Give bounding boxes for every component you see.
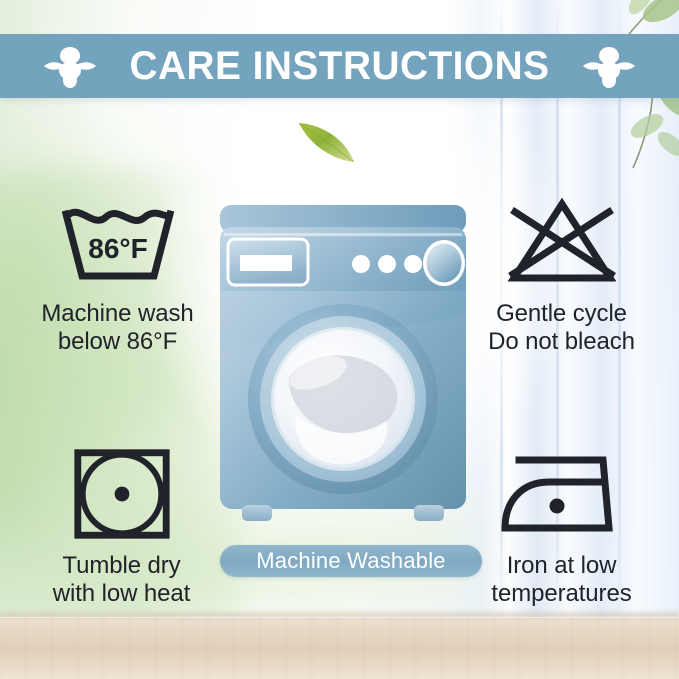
care-symbol-label: Gentle cycle Do not bleach	[454, 300, 669, 356]
care-symbol-tumble-dry: Tumble dry with low heat	[14, 442, 229, 608]
control-knob	[423, 240, 465, 286]
triangle-crossed-out-icon	[454, 190, 669, 294]
detergent-drawer	[228, 239, 308, 285]
status-badge: Machine Washable	[220, 545, 482, 577]
care-symbol-gentle-cycle-no-bleach: Gentle cycle Do not bleach	[454, 190, 669, 356]
care-symbol-label: Machine wash below 86°F	[10, 300, 225, 356]
tumble-dry-icon	[14, 442, 229, 546]
wood-grain-texture	[0, 617, 679, 679]
care-symbol-iron: Iron at low temperatures	[454, 442, 669, 608]
iron-icon	[454, 442, 669, 546]
washing-machine-illustration	[214, 201, 472, 541]
fleur-de-lis-icon	[43, 42, 97, 90]
badge-label: Machine Washable	[256, 550, 445, 572]
wash-temperature-value: 86°F	[88, 233, 147, 264]
table-edge	[0, 609, 679, 617]
header-banner: CARE INSTRUCTIONS	[0, 34, 679, 98]
control-indicator-dots	[352, 255, 422, 273]
page-title: CARE INSTRUCTIONS	[130, 46, 550, 86]
care-instructions-infographic: CARE INSTRUCTIONS	[0, 0, 679, 679]
care-symbol-label: Tumble dry with low heat	[14, 552, 229, 608]
care-symbol-machine-wash: 86°F Machine wash below 86°F	[10, 190, 225, 356]
wash-tub-icon: 86°F	[10, 190, 225, 294]
fleur-de-lis-icon	[582, 42, 636, 90]
care-symbol-label: Iron at low temperatures	[454, 552, 669, 608]
green-leaf-icon	[296, 118, 366, 168]
